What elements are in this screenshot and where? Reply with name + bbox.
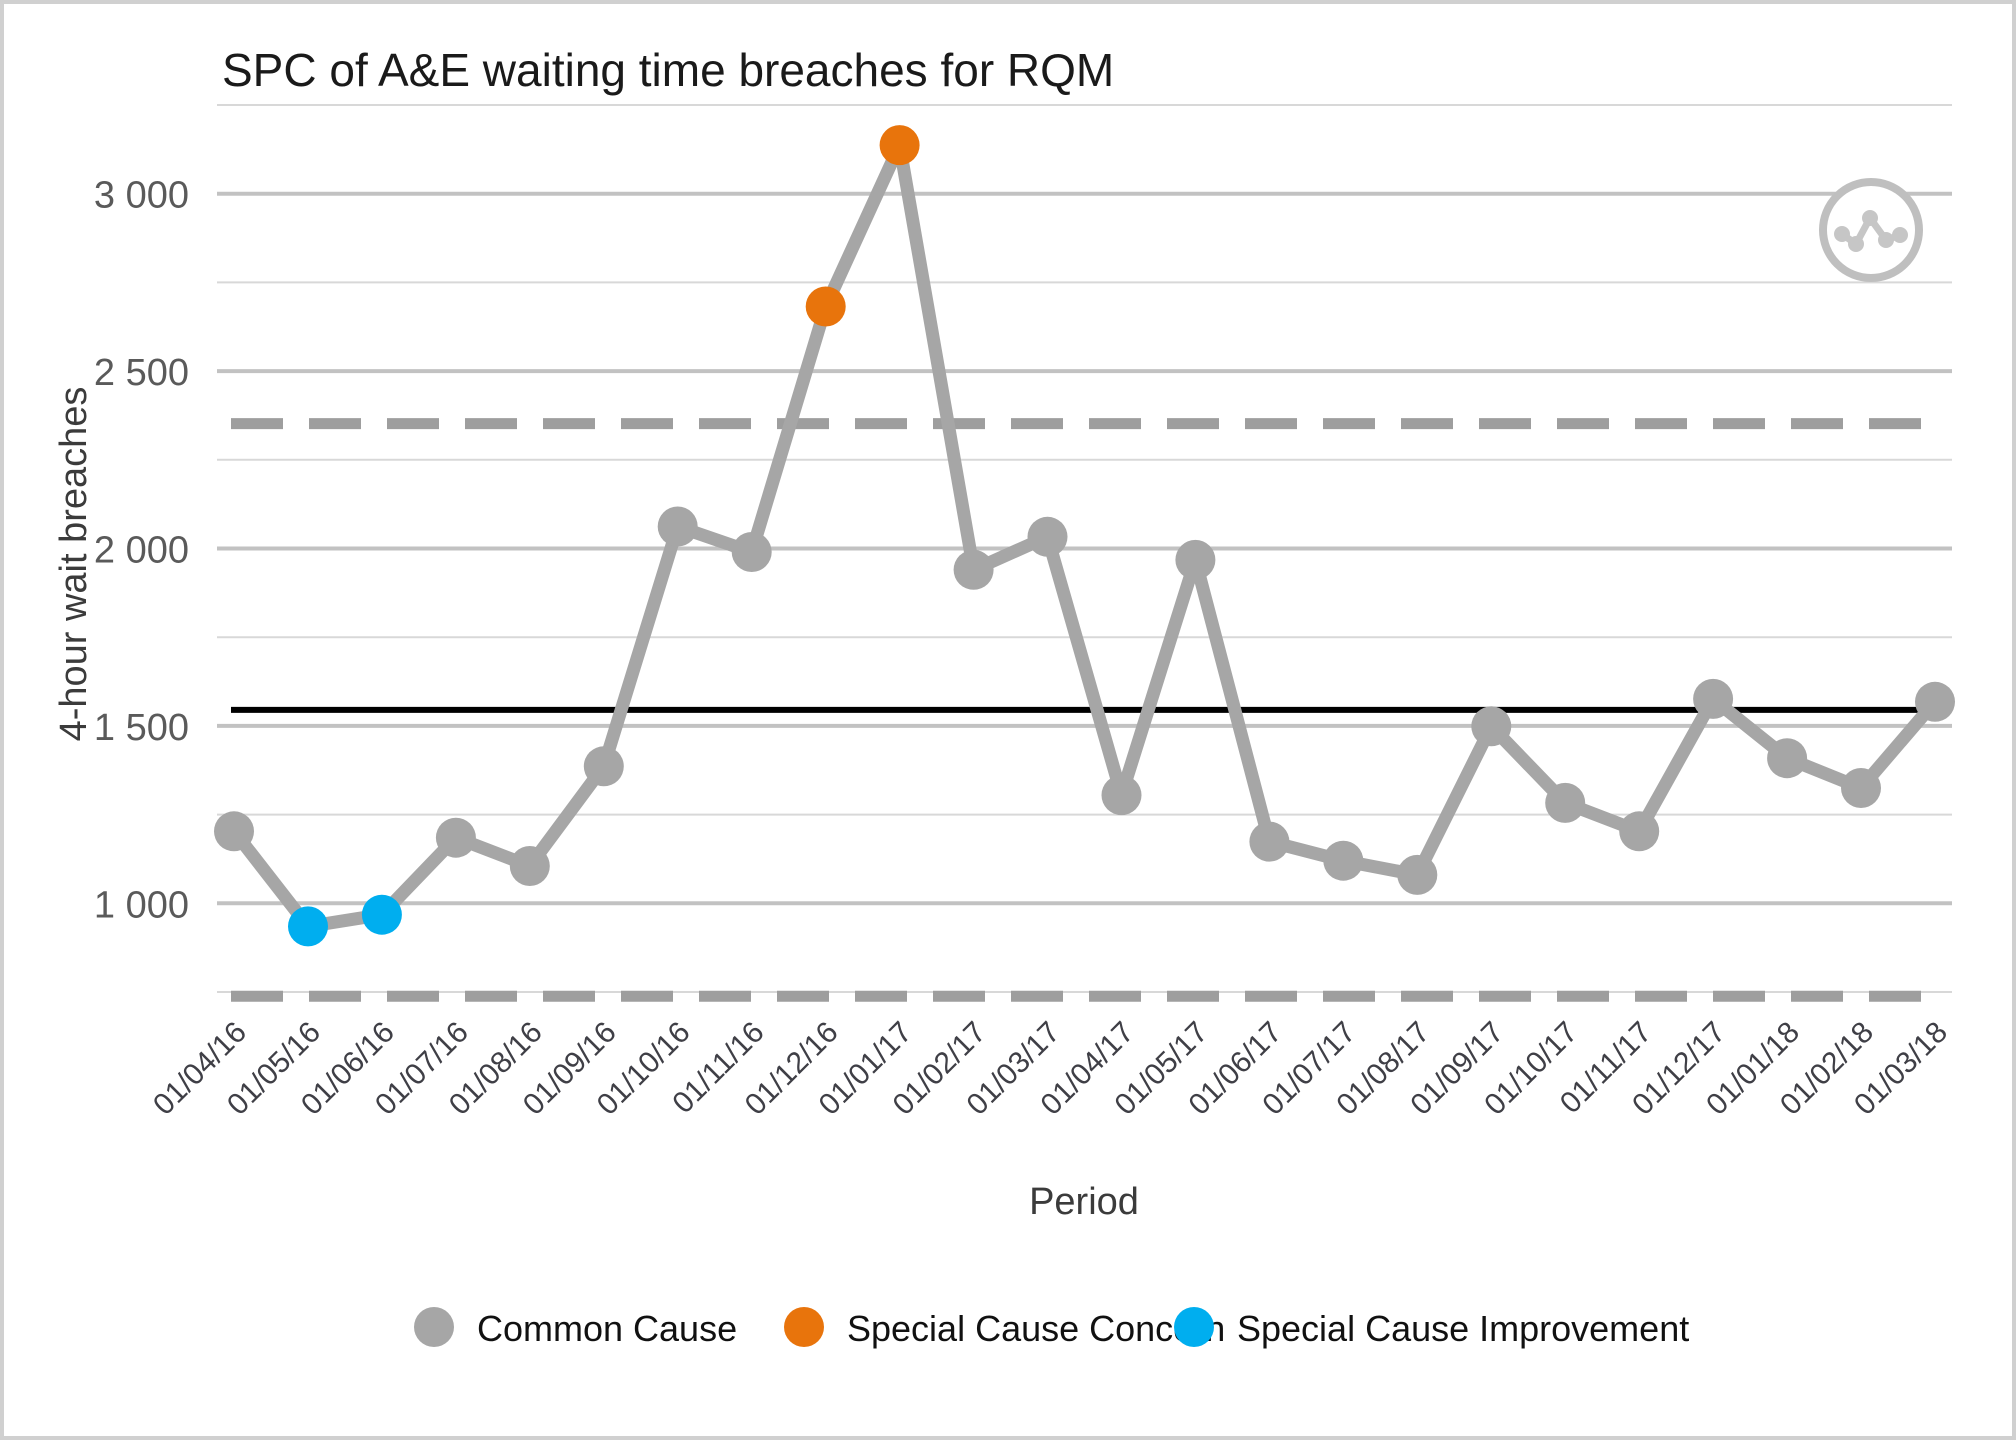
- data-point-common[interactable]: [1841, 768, 1881, 808]
- legend-label-concern: Special Cause Concern: [847, 1308, 1225, 1349]
- watermark-dot: [1834, 226, 1850, 242]
- y-axis-tick-label: 3 000: [94, 175, 189, 217]
- control-limits: [231, 424, 1946, 997]
- x-axis-title: Period: [1029, 1181, 1139, 1223]
- data-point-common[interactable]: [732, 532, 772, 572]
- data-point-common[interactable]: [1545, 783, 1585, 823]
- data-point-common[interactable]: [1693, 679, 1733, 719]
- watermark-dot: [1878, 232, 1894, 248]
- series-line: [234, 145, 1935, 926]
- data-point-common[interactable]: [1471, 706, 1511, 746]
- data-point-common[interactable]: [510, 846, 550, 886]
- chart-canvas: SPC of A&E waiting time breaches for RQM…: [4, 4, 2016, 1444]
- data-point-common[interactable]: [1323, 841, 1363, 881]
- data-point-common[interactable]: [436, 818, 476, 858]
- data-points: [214, 125, 1955, 946]
- data-point-common[interactable]: [954, 550, 994, 590]
- x-axis-title-group: Period: [1029, 1181, 1139, 1223]
- legend-item-common[interactable]: Common Cause: [414, 1307, 737, 1349]
- chart-title-group: SPC of A&E waiting time breaches for RQM: [222, 44, 1114, 96]
- legend-item-concern[interactable]: Special Cause Concern: [784, 1307, 1225, 1349]
- y-axis-tick-label: 2 000: [94, 530, 189, 572]
- data-point-improvement[interactable]: [288, 906, 328, 946]
- data-point-common[interactable]: [1249, 822, 1289, 862]
- y-axis-ticks: 1 0001 5002 0002 5003 000: [94, 175, 189, 927]
- series-line-group: [234, 145, 1935, 926]
- legend: Common CauseSpecial Cause ConcernSpecial…: [414, 1307, 1689, 1349]
- watermark-dot: [1862, 210, 1878, 226]
- data-point-common[interactable]: [1397, 855, 1437, 895]
- gridlines: [217, 105, 1952, 992]
- y-axis-tick-label: 1 000: [94, 884, 189, 926]
- chart-window-frame: SPC of A&E waiting time breaches for RQM…: [0, 0, 2016, 1440]
- y-axis-title: 4-hour wait breaches: [53, 387, 95, 742]
- data-point-common[interactable]: [1767, 738, 1807, 778]
- data-point-improvement[interactable]: [362, 895, 402, 935]
- watermark-dot: [1848, 236, 1864, 252]
- spc-chart: SPC of A&E waiting time breaches for RQM…: [4, 4, 2016, 1444]
- watermark-icon-group: [1823, 182, 1919, 278]
- y-axis-tick-label: 2 500: [94, 352, 189, 394]
- y-axis-tick-label: 1 500: [94, 707, 189, 749]
- data-point-common[interactable]: [1619, 811, 1659, 851]
- data-point-common[interactable]: [1102, 775, 1142, 815]
- legend-swatch-concern: [784, 1307, 824, 1347]
- data-point-common[interactable]: [1175, 540, 1215, 580]
- data-point-common[interactable]: [1028, 517, 1068, 557]
- x-axis-ticks: 01/04/1601/05/1601/06/1601/07/1601/08/16…: [147, 1016, 1954, 1122]
- y-axis-title-group: 4-hour wait breaches: [53, 387, 95, 742]
- data-point-concern[interactable]: [806, 287, 846, 327]
- legend-label-improvement: Special Cause Improvement: [1237, 1308, 1689, 1349]
- data-point-common[interactable]: [1915, 682, 1955, 722]
- data-point-concern[interactable]: [880, 125, 920, 165]
- legend-label-common: Common Cause: [477, 1308, 737, 1349]
- data-point-common[interactable]: [214, 811, 254, 851]
- chart-title: SPC of A&E waiting time breaches for RQM: [222, 44, 1114, 96]
- legend-swatch-improvement: [1174, 1307, 1214, 1347]
- legend-item-improvement[interactable]: Special Cause Improvement: [1174, 1307, 1689, 1349]
- data-point-common[interactable]: [584, 746, 624, 786]
- legend-swatch-common: [414, 1307, 454, 1347]
- data-point-common[interactable]: [658, 507, 698, 547]
- watermark-dot: [1892, 227, 1908, 243]
